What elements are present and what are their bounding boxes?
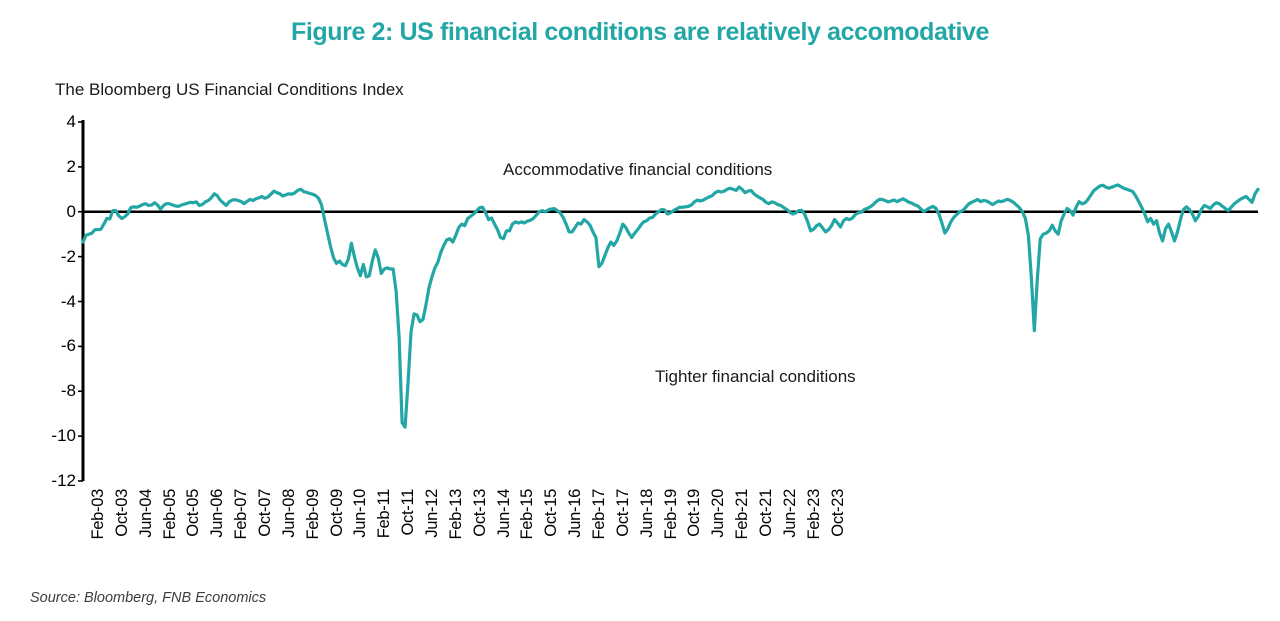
x-tick-label: Jun-04 [137,489,156,538]
x-tick-label: Feb-23 [805,489,824,539]
x-tick-label: Jun-08 [280,489,299,538]
x-axis-tick-labels: Feb-03Oct-03Jun-04Feb-05Oct-05Jun-06Feb-… [0,0,1280,621]
x-tick-label: Jun-18 [638,489,657,538]
chart-plot-area: 420-2-4-6-8-10-12 Feb-03Oct-03Jun-04Feb-… [0,0,1280,621]
x-tick-label: Feb-11 [375,489,394,538]
x-tick-label: Jun-14 [495,489,514,538]
x-tick-label: Jun-20 [709,489,728,538]
x-tick-label: Oct-19 [685,489,704,537]
x-tick-label: Jun-16 [566,489,585,538]
x-tick-label: Jun-06 [208,489,227,538]
x-tick-label: Oct-03 [113,489,132,537]
x-tick-label: Feb-03 [89,489,108,539]
x-tick-label: Oct-23 [829,489,848,537]
annotation-accommodative: Accommodative financial conditions [503,160,772,180]
x-tick-label: Feb-05 [161,489,180,539]
x-tick-label: Oct-09 [328,489,347,537]
x-tick-label: Oct-07 [256,489,275,537]
x-tick-label: Feb-13 [447,489,466,539]
x-tick-label: Oct-17 [614,489,633,537]
x-tick-label: Jun-10 [351,489,370,538]
x-tick-label: Feb-21 [733,489,752,539]
x-tick-label: Feb-07 [232,489,251,539]
source-note: Source: Bloomberg, FNB Economics [30,590,266,606]
x-tick-label: Oct-15 [542,489,561,537]
x-tick-label: Jun-22 [781,489,800,538]
x-tick-label: Jun-12 [423,489,442,538]
x-tick-label: Feb-17 [590,489,609,539]
annotation-tighter: Tighter financial conditions [655,367,856,387]
x-tick-label: Feb-09 [304,489,323,539]
x-tick-label: Oct-11 [399,489,418,536]
x-tick-label: Oct-13 [471,489,490,537]
x-tick-label: Oct-21 [757,489,776,537]
x-tick-label: Oct-05 [184,489,203,537]
x-tick-label: Feb-15 [518,489,537,539]
x-tick-label: Feb-19 [662,489,681,539]
